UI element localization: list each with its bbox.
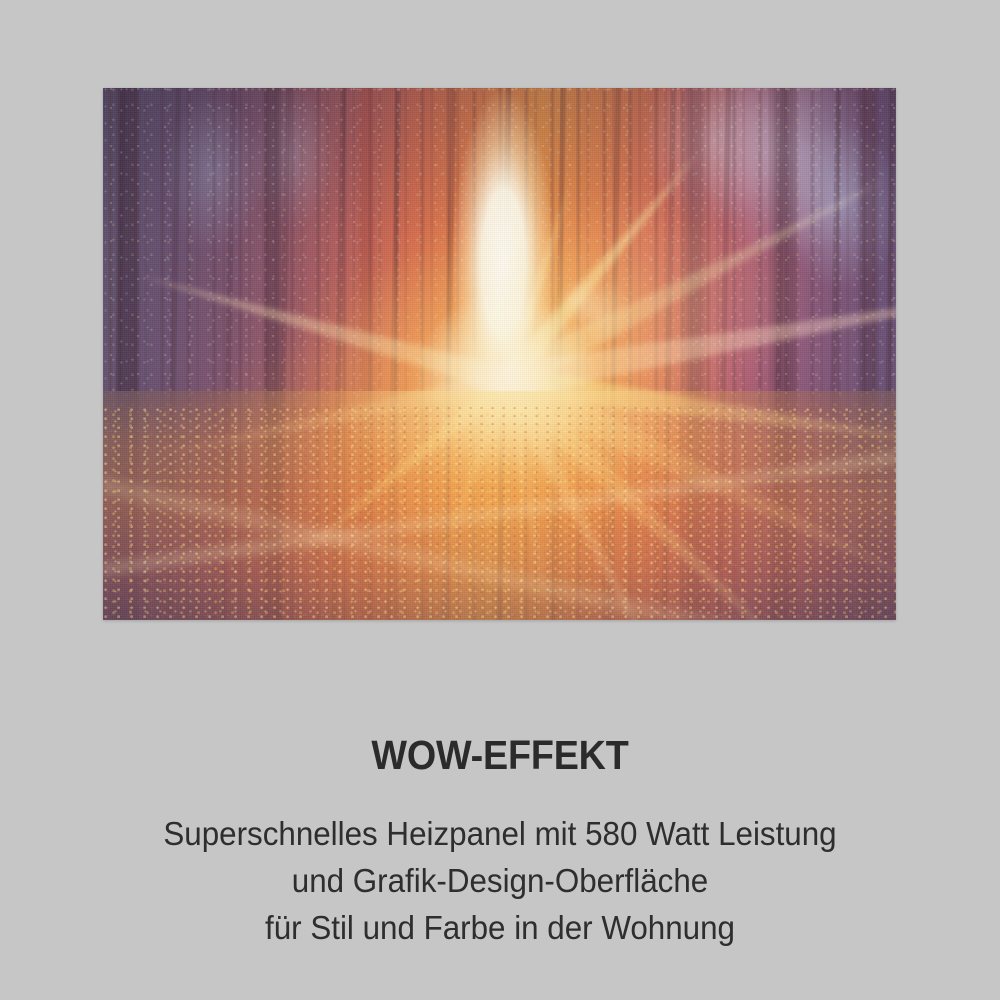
caption-description: Superschnelles Heizpanel mit 580 Watt Le… — [25, 810, 975, 951]
caption-line-2: und Grafik-Design-Oberfläche — [25, 857, 975, 904]
photo-stage — [103, 88, 896, 620]
vignette-layer — [103, 88, 896, 620]
sunset-forest-path-photo — [103, 88, 896, 620]
caption-line-1: Superschnelles Heizpanel mit 580 Watt Le… — [25, 810, 975, 857]
caption-line-3: für Stil und Farbe in der Wohnung — [25, 904, 975, 951]
page-title: WOW-EFFEKT — [40, 735, 960, 776]
product-feature-banner: WOW-EFFEKT Superschnelles Heizpanel mit … — [0, 0, 1000, 1000]
caption-block: WOW-EFFEKT Superschnelles Heizpanel mit … — [0, 735, 1000, 951]
